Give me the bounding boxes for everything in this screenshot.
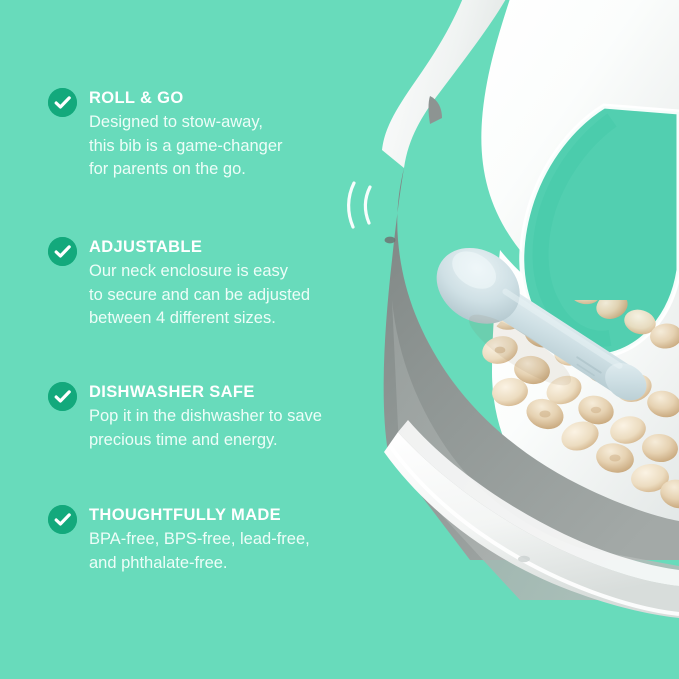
feature-body-line: and phthalate-free. — [89, 552, 360, 576]
feature-item-adjustable: ADJUSTABLE Our neck enclosure is easy to… — [48, 237, 360, 331]
product-infographic: ROLL & GO Designed to stow-away, this bi… — [0, 0, 679, 679]
check-circle-icon — [48, 382, 77, 411]
check-circle-icon — [48, 88, 77, 117]
check-circle-icon — [48, 237, 77, 266]
feature-body: Pop it in the dishwasher to save preciou… — [89, 405, 360, 452]
feature-list: ROLL & GO Designed to stow-away, this bi… — [0, 0, 360, 679]
feature-body-line: between 4 different sizes. — [89, 307, 360, 331]
feature-item-dishwasher-safe: DISHWASHER SAFE Pop it in the dishwasher… — [48, 382, 360, 452]
feature-body: Our neck enclosure is easy to secure and… — [89, 260, 360, 331]
feature-body: Designed to stow-away, this bib is a gam… — [89, 111, 360, 182]
feature-body-line: Our neck enclosure is easy — [89, 260, 360, 284]
feature-heading: DISHWASHER SAFE — [89, 382, 360, 402]
feature-heading: ROLL & GO — [89, 88, 360, 108]
feature-item-roll-and-go: ROLL & GO Designed to stow-away, this bi… — [48, 88, 360, 182]
feature-body: BPA-free, BPS-free, lead-free, and phtha… — [89, 528, 360, 575]
feature-body-line: BPA-free, BPS-free, lead-free, — [89, 528, 360, 552]
feature-body-line: Designed to stow-away, — [89, 111, 360, 135]
feature-body-line: for parents on the go. — [89, 158, 360, 182]
check-circle-icon — [48, 505, 77, 534]
feature-body-line: this bib is a game-changer — [89, 135, 360, 159]
bib-strap-tab — [429, 96, 443, 124]
feature-body-line: to secure and can be adjusted — [89, 284, 360, 308]
feature-body-line: precious time and energy. — [89, 429, 360, 453]
feature-heading: ADJUSTABLE — [89, 237, 360, 257]
feature-heading: THOUGHTFULLY MADE — [89, 505, 360, 525]
feature-item-thoughtfully-made: THOUGHTFULLY MADE BPA-free, BPS-free, le… — [48, 505, 360, 575]
bib-vent-hole — [385, 237, 396, 244]
feature-body-line: Pop it in the dishwasher to save — [89, 405, 360, 429]
